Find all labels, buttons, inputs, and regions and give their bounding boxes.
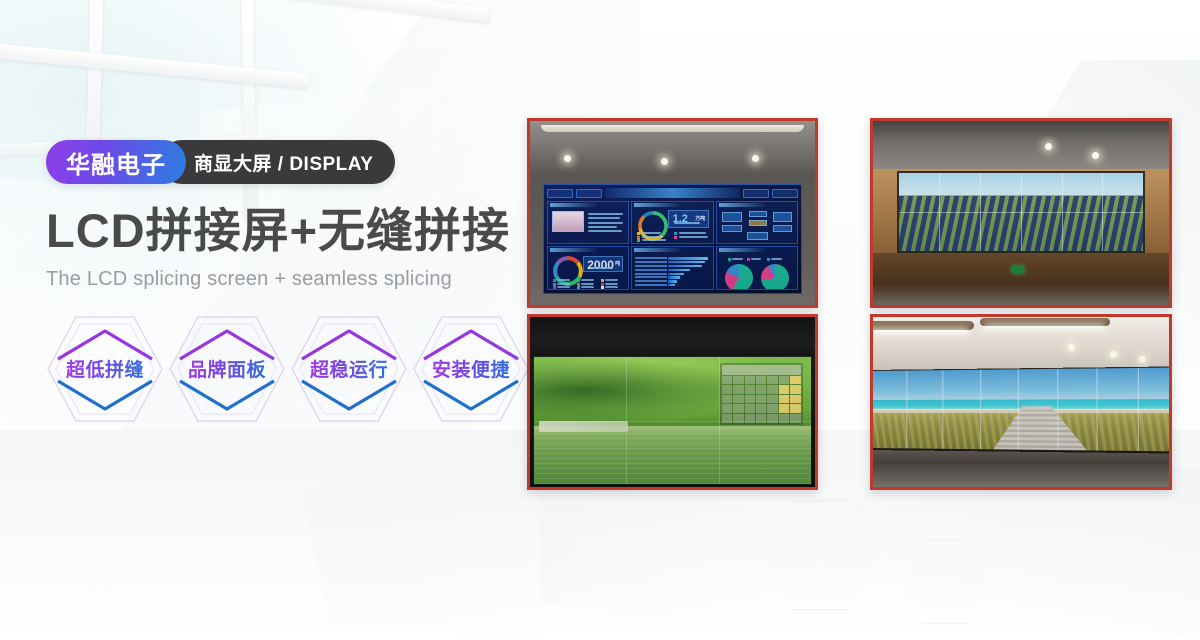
feature-badge: 品牌面板 (168, 315, 286, 423)
dashboard-card-bar-chart (631, 246, 713, 290)
dashboard-row-bottom: 2000 吨 (547, 246, 798, 290)
dashboard-tab (772, 189, 798, 198)
dashboard-tab (743, 189, 769, 198)
photo-willow-lake-video-wall[interactable] (527, 314, 818, 490)
lakeside-path (539, 421, 628, 432)
ceiling (873, 317, 1169, 371)
brand-name: 华融电子 (46, 140, 186, 184)
ceiling-spotlight (661, 158, 668, 165)
dashboard-card-flow-diagram (716, 201, 798, 245)
photo-solar-farm-video-wall[interactable] (870, 118, 1172, 308)
page-subtitle: The LCD splicing screen + seamless splic… (46, 268, 546, 291)
dashboard-tab (547, 189, 573, 198)
ceiling-spotlight (752, 155, 759, 162)
bar-chart (635, 257, 709, 286)
brand-badge: 华融电子 商显大屏 / DISPLAY (46, 140, 395, 184)
ceiling (530, 121, 815, 180)
feature-badge: 安装便捷 (412, 315, 530, 423)
dashboard-card-pie-charts (716, 246, 798, 290)
dashboard-title-bar (605, 188, 740, 198)
dashboard-screen: 1.2 万吨 (543, 184, 802, 294)
kpi-secondary-value: 2000 (587, 258, 614, 272)
feature-badge: 超低拼缝 (46, 315, 164, 423)
dashboard-tab (576, 189, 602, 198)
dashboard-card-overview (547, 201, 629, 245)
photo-dashboard-video-wall[interactable]: 1.2 万吨 (527, 118, 818, 308)
pie-chart (725, 264, 753, 290)
water-reflection (534, 428, 811, 484)
dashboard-card-donut-legend: 2000 吨 (547, 246, 629, 290)
exit-sign-icon (1012, 266, 1024, 273)
feature-badge-label: 超低拼缝 (66, 355, 144, 382)
pie-chart (761, 264, 789, 290)
ceiling-spotlight (564, 155, 571, 162)
product-photo-grid: 1.2 万吨 (527, 118, 1172, 490)
feature-badge-list: 超低拼缝 品牌面板 超稳运行 (46, 315, 546, 423)
feature-badge: 超稳运行 (290, 315, 408, 423)
feature-badge-label: 品牌面板 (188, 355, 266, 382)
video-wall-screen (873, 366, 1169, 453)
ceiling (873, 121, 1169, 169)
kpi-panel: 2000 吨 (583, 256, 623, 273)
video-wall-screen (533, 356, 812, 485)
kpi-panel: 1.2 万吨 (668, 210, 710, 228)
brand-category: 商显大屏 / DISPLAY (160, 140, 395, 184)
sky (873, 367, 1169, 403)
feature-badge-label: 安装便捷 (432, 355, 510, 382)
dashboard-thumbnail (552, 211, 584, 233)
page-title: LCD拼接屏+无缝拼接 (46, 206, 546, 256)
hero-content: 华融电子 商显大屏 / DISPLAY LCD拼接屏+无缝拼接 The LCD … (46, 140, 546, 423)
calendar-grid (722, 376, 801, 423)
ceiling-light-strip (541, 125, 803, 132)
lower-wall (873, 253, 1169, 305)
dashboard-card-donut-kpi: 1.2 万吨 (631, 201, 713, 245)
video-wall-screen (897, 171, 1146, 254)
upper-dark-band (530, 317, 815, 358)
dashboard-row-top: 1.2 万吨 (547, 201, 798, 245)
dashboard-header (547, 188, 798, 199)
photo-beach-boardwalk-video-wall[interactable] (870, 314, 1172, 490)
kpi-primary-unit: 万吨 (695, 215, 705, 222)
kpi-secondary-unit: 吨 (615, 260, 620, 267)
calendar-title (722, 365, 801, 374)
feature-badge-label: 超稳运行 (310, 355, 388, 382)
calendar-widget (720, 363, 803, 424)
